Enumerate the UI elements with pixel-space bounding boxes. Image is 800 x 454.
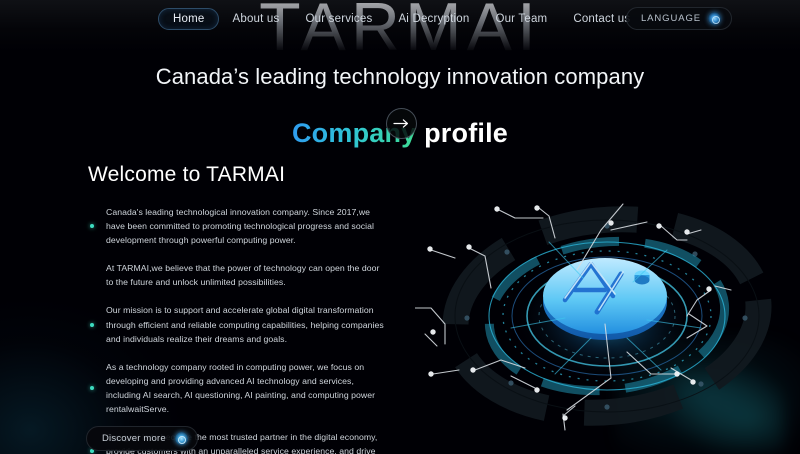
arrow-right-icon[interactable] xyxy=(386,108,417,139)
hero-tagline: Canada’s leading technology innovation c… xyxy=(0,64,800,90)
globe-orb-icon xyxy=(708,12,721,25)
paragraph-list: Canada's leading technological innovatio… xyxy=(88,205,388,454)
bullet-icon xyxy=(90,323,94,327)
content-column: Welcome to TARMAI Canada's leading techn… xyxy=(88,163,388,454)
nav-item-home[interactable]: Home xyxy=(158,8,219,30)
nav-item-about-us[interactable]: About us xyxy=(219,8,292,30)
discover-more-label: Discover more xyxy=(102,433,166,444)
language-button[interactable]: LANGUAGE xyxy=(626,7,732,30)
orb-icon xyxy=(175,432,188,445)
paragraph-text: At TARMAI,we believe that the power of t… xyxy=(106,263,379,287)
nav-item-our-team[interactable]: Our Team xyxy=(482,8,560,30)
language-button-label: LANGUAGE xyxy=(641,13,701,24)
list-item: Canada's leading technological innovatio… xyxy=(88,205,388,247)
ai-platform-3d-illustration xyxy=(415,178,800,454)
nav-links: Home About us Our services Ai Decryption… xyxy=(158,8,643,30)
bullet-icon xyxy=(90,224,94,228)
paragraph-text: Our mission is to support and accelerate… xyxy=(106,305,384,343)
top-navigation-bar: Home About us Our services Ai Decryption… xyxy=(0,0,800,38)
hero-title-plain: profile xyxy=(416,118,508,148)
nav-item-our-services[interactable]: Our services xyxy=(292,8,385,30)
paragraph-text: Canada's leading technological innovatio… xyxy=(106,207,374,245)
list-item: As a technology company rooted in comput… xyxy=(88,360,388,416)
welcome-heading: Welcome to TARMAI xyxy=(88,163,388,187)
discover-more-button[interactable]: Discover more xyxy=(86,426,198,451)
page-root: TARMAI Home About us Our services Ai Dec… xyxy=(0,0,800,454)
list-item: At TARMAI,we believe that the power of t… xyxy=(88,261,388,289)
paragraph-text: As a technology company rooted in comput… xyxy=(106,362,375,414)
list-item: Our mission is to support and accelerate… xyxy=(88,303,388,345)
nav-item-ai-decryption[interactable]: Ai Decryption xyxy=(385,8,482,30)
bullet-icon xyxy=(90,386,94,390)
